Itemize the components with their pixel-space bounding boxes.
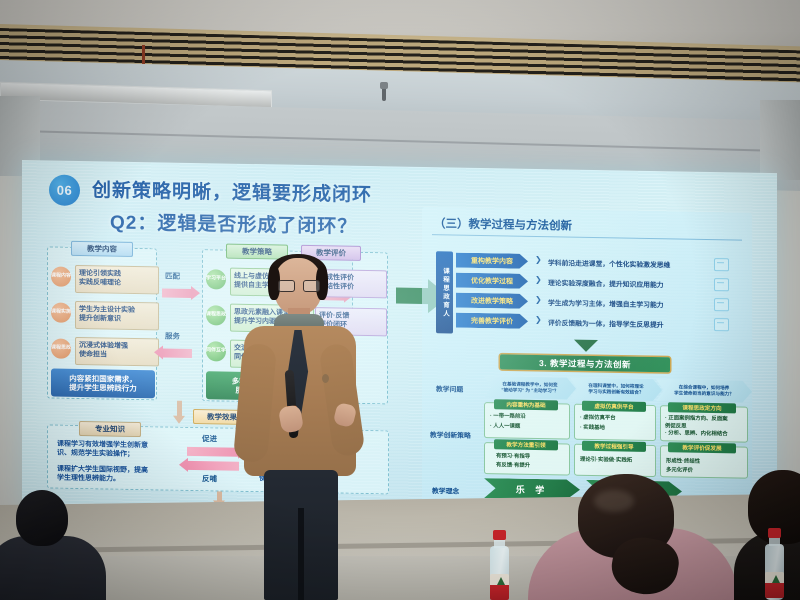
content-footer-banner: 内容紧扣国家需求， 提升学生思辨践行力 xyxy=(51,369,155,399)
strategy-card-2-item-1: 虚拟仿真平台 xyxy=(583,415,615,422)
row-text-3: 学生成为学习主体，增强自主学习能力 xyxy=(548,297,664,309)
row-label-strategy: 教学创新策略 xyxy=(430,429,471,440)
audience-center-hair-highlight xyxy=(594,490,634,512)
arrow-label-serve: 服务 xyxy=(165,330,180,341)
strategy-card-1-header: 内容重构为基础 xyxy=(494,399,558,410)
audience-left-head xyxy=(16,490,68,546)
question-card-1: 在基础课程教学中，如何变 "被动学习" 为 "主动学习"？ xyxy=(484,376,576,400)
tag-course-ideology: 课程思政 xyxy=(51,339,71,359)
down-arrow-section xyxy=(574,340,598,352)
tag-course-implementation: 课程实施 xyxy=(51,303,71,323)
slide-title-line2: Q2：逻辑是否形成了闭环？ xyxy=(110,208,357,239)
vertical-label-ideology-education: 课程思政育人 xyxy=(436,251,453,333)
section-divider xyxy=(432,234,742,240)
audience-member-center xyxy=(520,480,750,600)
strategy-card-6-header: 教学评价促发展 xyxy=(668,442,736,453)
question-card-3: 在综合课程中，如何培养 学生使命担当的意识与能力？ xyxy=(656,379,752,403)
classroom-scene: 06 创新策略明晰，逻辑要形成闭环 Q2：逻辑是否形成了闭环？ 教学内容 课程内… xyxy=(0,0,800,600)
content-item-1: 理论引领实践 实践反哺理论 xyxy=(75,265,159,294)
row-label-philosophy: 教学理念 xyxy=(432,485,459,495)
arrow-match xyxy=(162,288,192,298)
content-item-2: 学生为主设计实验 提升创新意识 xyxy=(75,301,159,330)
water-bottle xyxy=(490,530,509,600)
arrow-feedback xyxy=(187,461,239,471)
knowledge-bullet-1: 课程学习有效增强学生创新意 识、规范学生实验操作； xyxy=(57,440,169,461)
presenter xyxy=(236,258,364,600)
arrow-label-match: 匹配 xyxy=(165,270,180,281)
sprinkler-icon xyxy=(380,82,388,89)
column-header-content: 教学内容 xyxy=(71,241,133,257)
wall-pillar-right xyxy=(760,100,800,180)
import-box-icon-2 xyxy=(714,318,729,331)
row-text-2: 理论实验深度融合，提升知识应用能力 xyxy=(548,277,664,289)
strategy-card-3-header: 课程思政定方向 xyxy=(668,402,736,413)
strategy-card-4-header: 教学方法重引领 xyxy=(494,439,558,450)
right-panel: （三）教学过程与方法创新 课程思政育人 重构教学内容 ❯ 学科前沿走进课堂，个性… xyxy=(422,207,752,513)
right-section-title: （三）教学过程与方法创新 xyxy=(434,215,572,233)
arrow-serve xyxy=(162,348,192,358)
presenter-leg-gap xyxy=(298,508,304,600)
strategy-card-5-header: 教学过程强引导 xyxy=(582,441,646,452)
down-arrow-to-effect xyxy=(177,401,182,417)
professional-knowledge-header: 专业知识 xyxy=(79,421,141,437)
bottle-logo-icon xyxy=(772,575,780,583)
chevron-optimize-process: 优化教学过程 xyxy=(456,273,528,289)
water-bottle xyxy=(765,528,784,600)
question-card-2: 在理科课堂中，如何将理论 学习与实践创新有效结合？ xyxy=(570,378,662,402)
tag-strategy-ideology: 课程思政 xyxy=(206,305,226,325)
content-item-3: 沉浸式体验增强 使命担当 xyxy=(75,337,159,366)
presenter-lapel-pin xyxy=(322,374,329,383)
bottle-cap xyxy=(493,530,506,540)
tag-learning-platform: 学习平台 xyxy=(206,269,226,289)
strategy-card-5-item-1: 理论引·实验做·实践拓 xyxy=(580,457,632,465)
arrow-label-promote: 促进 xyxy=(202,433,217,444)
strategy-card-4-item-2: 有反馈·有提升 xyxy=(496,462,530,470)
chevron-perfect-evaluation: 完善教学评价 xyxy=(456,313,528,329)
row-label-problems: 教学问题 xyxy=(436,383,463,393)
section-banner: 3. 教学过程与方法创新 xyxy=(500,354,670,372)
strategy-card-3-item-2: 分析、思辨、内化相结合 xyxy=(668,430,727,437)
import-box-icon-1 xyxy=(714,278,729,291)
copy-box-icon-2 xyxy=(714,298,729,311)
strategy-card-2-header: 虚拟仿真供平台 xyxy=(582,401,646,412)
audience-left-body xyxy=(0,536,106,600)
strategy-card-2-item-2: 实践基地 xyxy=(583,425,605,431)
arrow-promote xyxy=(187,447,239,457)
row-text-1: 学科前沿走进课堂，个性化实验激发思维 xyxy=(548,257,670,269)
bottle-neck xyxy=(494,539,505,548)
strategy-card-4-item-1: 有预习·有指导 xyxy=(496,453,530,461)
strategy-card-3-item-1: 正面案例指方向、反面案 例促反思 xyxy=(665,415,728,429)
row-text-4: 评价反馈融为一体，指导学生反思提升 xyxy=(548,317,664,329)
tag-course-content: 课程内容 xyxy=(51,267,71,287)
bottle-logo-icon xyxy=(497,577,505,585)
slide-title-line1: 创新策略明晰，逻辑要形成闭环 xyxy=(92,175,372,207)
bottle-cap xyxy=(768,528,781,538)
strategy-card-6-item-1: 形成性·终结性 xyxy=(666,458,700,466)
strategy-card-1-item-2: 人人一课题 xyxy=(493,423,520,429)
down-arrow-to-banner xyxy=(217,491,222,501)
presentation-slide: 06 创新策略明晰，逻辑要形成闭环 Q2：逻辑是否形成了闭环？ 教学内容 课程内… xyxy=(22,160,777,525)
bottle-neck xyxy=(769,537,780,546)
chevron-improve-strategy: 改进教学策略 xyxy=(456,293,528,309)
strategy-card-1-item-1: 一带一路前沿 xyxy=(493,413,525,420)
copy-box-icon-1 xyxy=(714,258,729,271)
knowledge-bullet-2: 课程扩大学生国际视野，提高 学生理性思辨能力。 xyxy=(57,465,169,486)
strategy-card-6-item-2: 多元化评价 xyxy=(666,467,693,475)
audience-member-left xyxy=(0,490,112,600)
tag-peer-learning: 同伴互学 xyxy=(206,341,226,361)
presenter-glasses-icon xyxy=(278,280,318,290)
chevron-restructure-content: 重构教学内容 xyxy=(456,253,528,269)
slide-number-badge: 06 xyxy=(49,174,80,206)
projection-screen: 06 创新策略明晰，逻辑要形成闭环 Q2：逻辑是否形成了闭环？ 教学内容 课程内… xyxy=(22,160,777,525)
arrow-label-feedback: 反哺 xyxy=(202,473,217,484)
